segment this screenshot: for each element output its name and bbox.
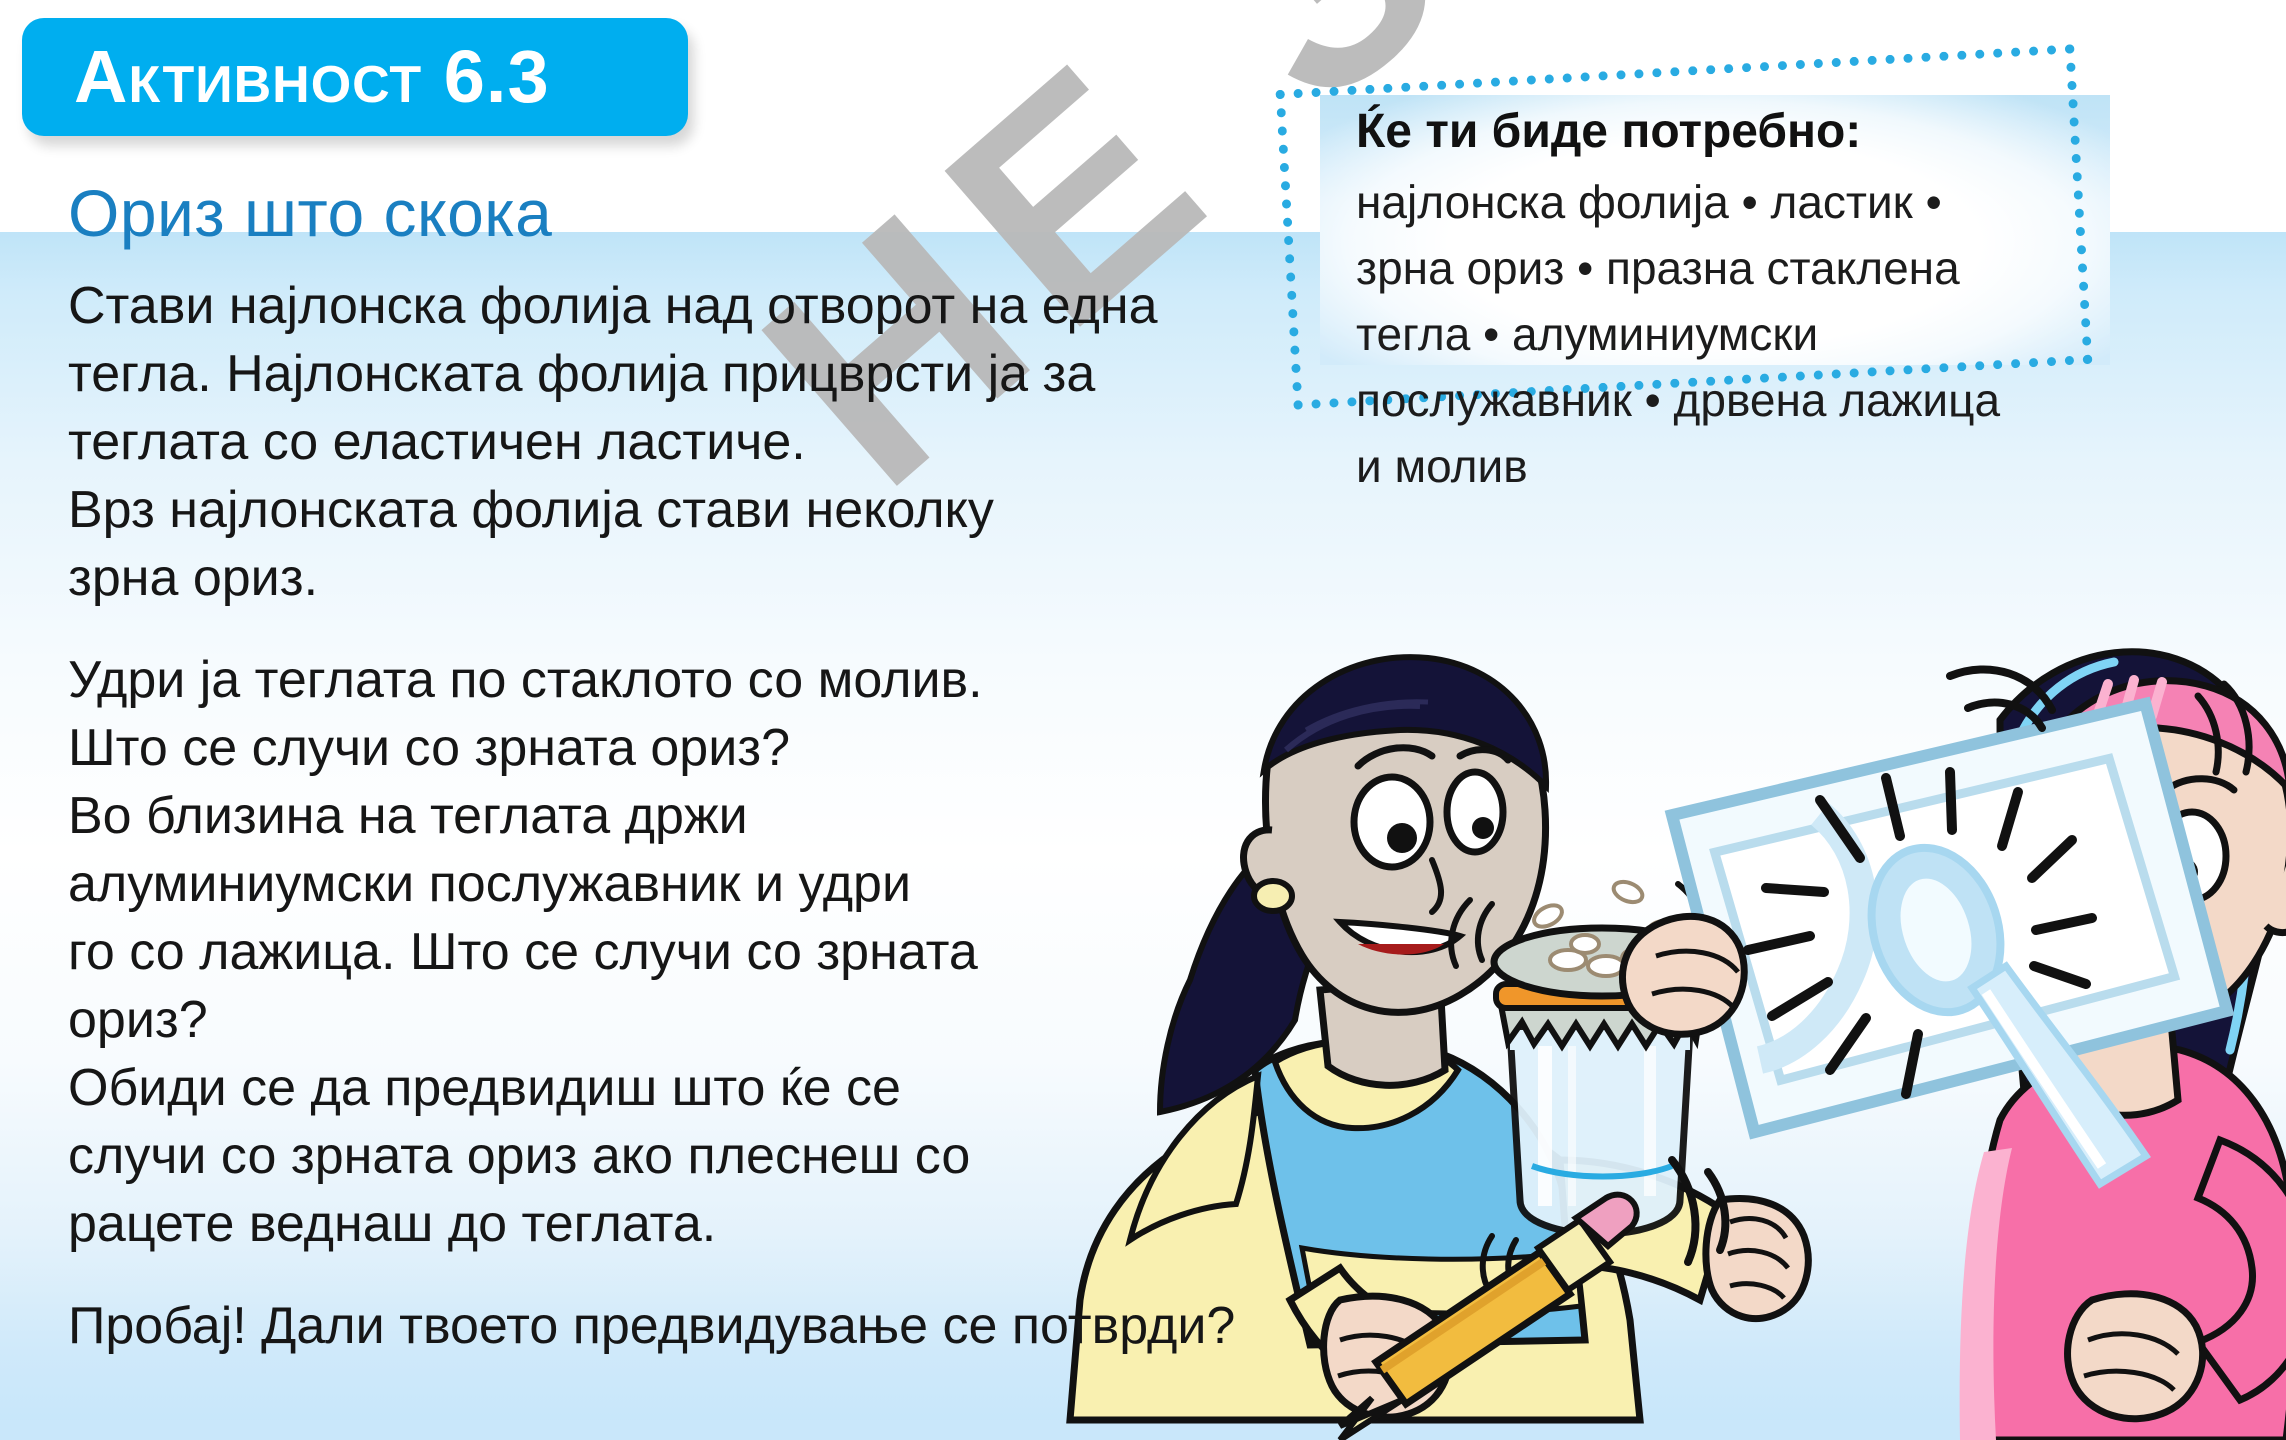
materials-box-title: Ќе ти биде потребно: [1356,101,2096,163]
materials-box: Ќе ти биде потребно: најлонска фолија • … [1320,95,2110,365]
materials-box-list: најлонска фолија • ластик • зрна ориз • … [1356,169,2096,499]
activity-subtitle: Ориз што скока [68,178,552,248]
body-paragraph-3: Пробај! Дали твоето предвидување се потв… [68,1292,1248,1360]
activity-page: НЕ ЗА ПРОДАЖБА Активност 6.3 Ориз што ск… [0,0,2286,1440]
materials-line: тегла • алуминиумски [1356,301,2096,367]
activity-body: Стави најлонска фолија над отворот на ед… [68,272,1248,1360]
body-paragraph-2: Удри ја теглата по стаклото со молив. Шт… [68,646,1068,1258]
materials-line: зрна ориз • празна стаклена [1356,235,2096,301]
activity-title-label: Активност 6.3 [22,40,550,114]
materials-box-content: Ќе ти биде потребно: најлонска фолија • … [1356,101,2096,499]
materials-line: и молив [1356,433,2096,499]
materials-line: послужавник • дрвена лажица [1356,367,2096,433]
girl-with-tray-figure [1623,652,2286,1440]
activity-title-badge: Активност 6.3 [22,18,688,136]
body-paragraph-1: Стави најлонска фолија над отворот на ед… [68,272,1248,612]
materials-line: најлонска фолија • ластик • [1356,169,2096,235]
